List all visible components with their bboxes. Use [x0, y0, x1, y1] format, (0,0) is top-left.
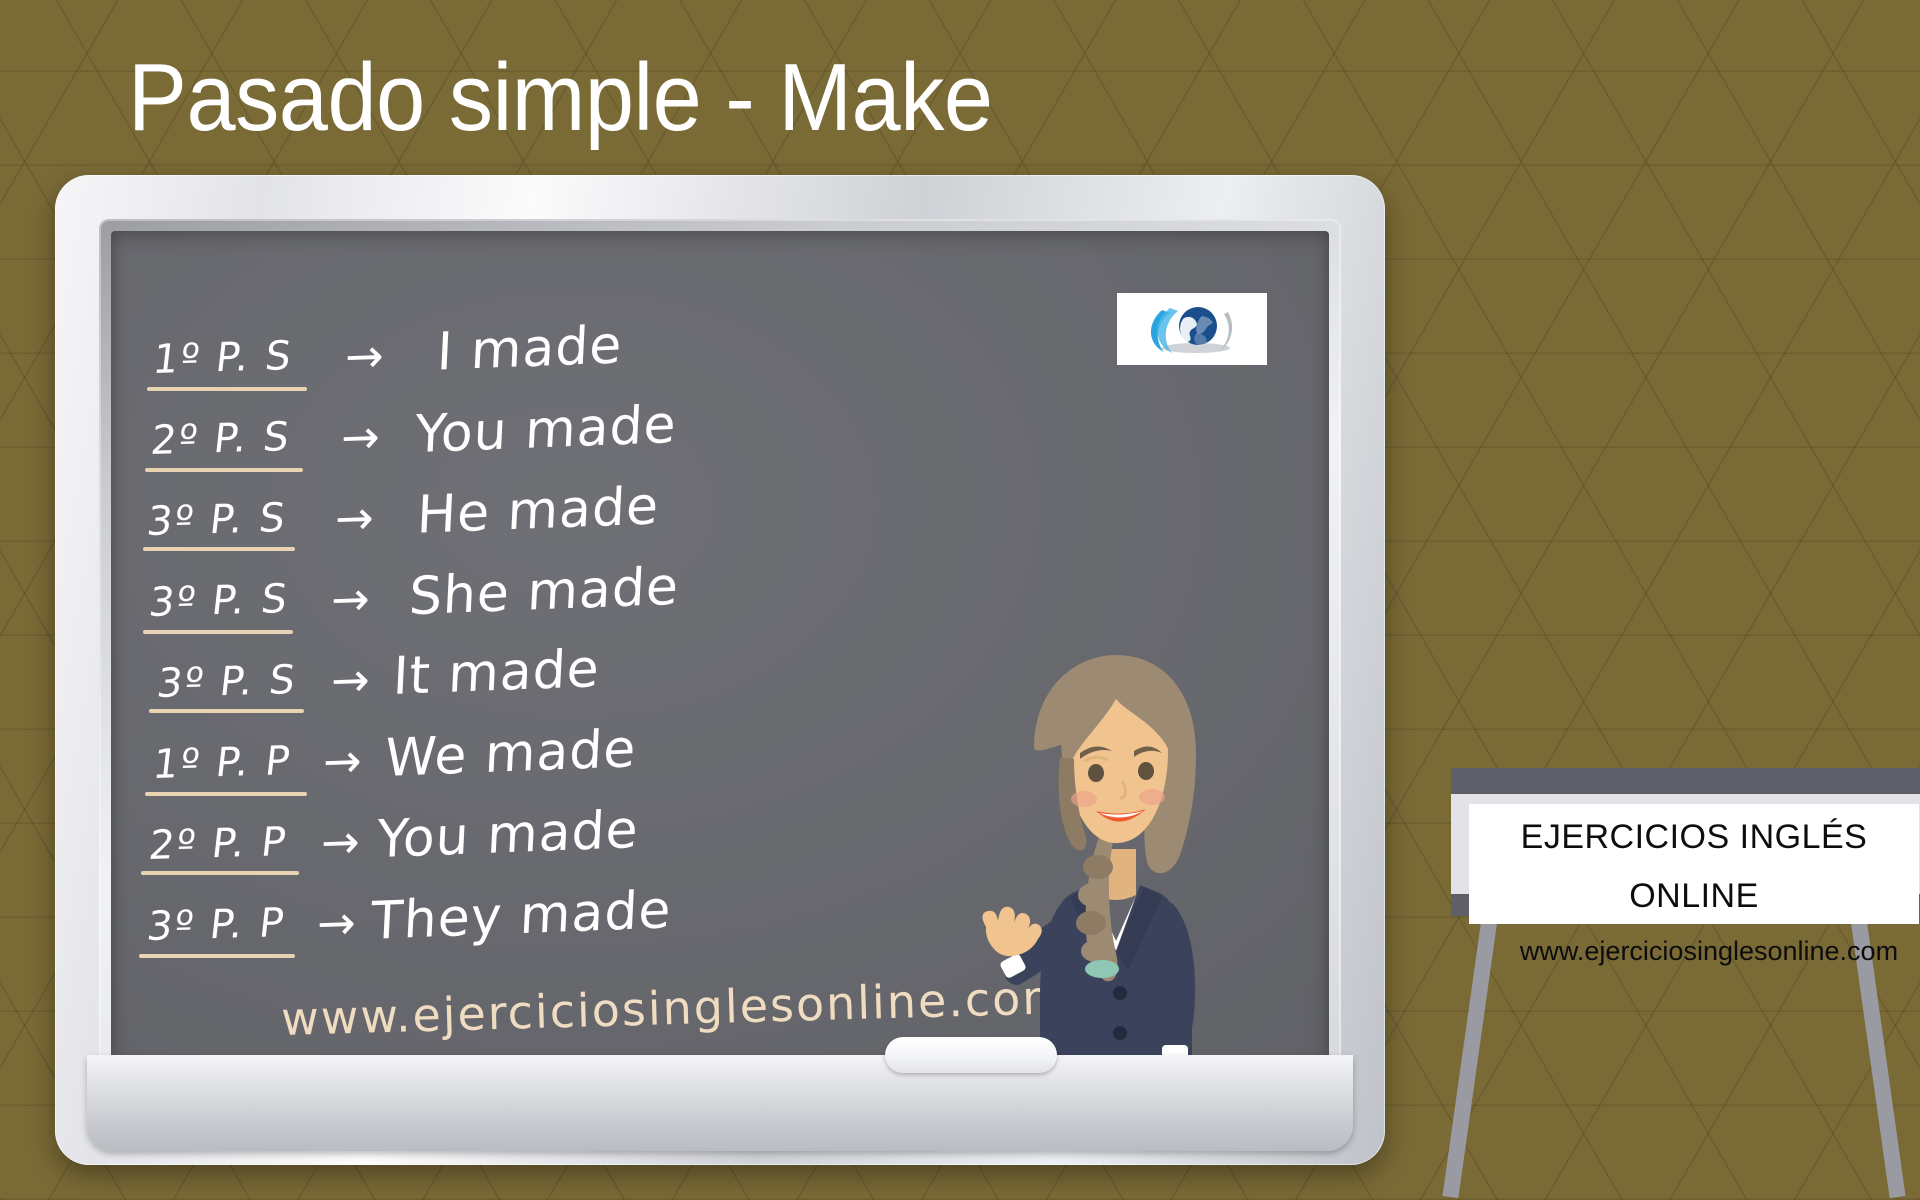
label-underline	[147, 387, 307, 391]
person-label: 3º P. S	[146, 576, 291, 626]
conjugated-phrase: We made	[384, 723, 638, 785]
label-underline	[149, 709, 304, 713]
label-underline	[143, 547, 295, 551]
person-label: 3º P. P	[144, 900, 288, 950]
chalkboard-surface: 1º P. S → I made 2º P. S → You made 3º P…	[111, 231, 1329, 1087]
globe-swoosh-logo	[1117, 293, 1267, 365]
conjugated-phrase: I made	[436, 319, 624, 378]
conjugated-phrase: They made	[370, 884, 673, 948]
sign-top-bar	[1451, 768, 1920, 794]
sign-line-1: EJERCICIOS INGLÉS	[1521, 818, 1868, 857]
person-label: 3º P. S	[144, 495, 289, 545]
conjugation-row: 3º P. S → It made	[145, 651, 945, 732]
chalk-eraser	[885, 1037, 1057, 1073]
conjugation-row: 1º P. P → We made	[145, 732, 945, 813]
chalk-tray	[87, 1055, 1353, 1151]
conjugation-row: 3º P. S → She made	[145, 570, 945, 651]
person-label: 1º P. S	[150, 333, 295, 383]
arrow-icon: →	[320, 818, 360, 865]
conjugation-row: 3º P. P → They made	[145, 894, 945, 975]
arrow-icon: →	[340, 413, 380, 460]
arrow-icon: →	[334, 494, 374, 541]
arrow-icon: →	[344, 332, 384, 379]
conjugated-phrase: It made	[392, 643, 601, 703]
teacher-illustration	[956, 641, 1256, 1087]
conjugated-phrase: He made	[416, 480, 661, 541]
arrow-icon: →	[330, 656, 370, 703]
conjugation-list: 1º P. S → I made 2º P. S → You made 3º P…	[145, 327, 945, 975]
label-underline	[143, 630, 293, 634]
person-label: 1º P. P	[150, 738, 294, 788]
label-underline	[139, 954, 295, 958]
easel-sign: EJERCICIOS INGLÉS ONLINE www.ejerciciosi…	[1427, 768, 1920, 1200]
conjugation-row: 2º P. P → You made	[145, 813, 945, 894]
label-underline	[145, 468, 303, 472]
person-label: 2º P. P	[146, 819, 290, 869]
conjugation-row: 2º P. S → You made	[145, 408, 945, 489]
label-underline	[141, 871, 299, 875]
page-title: Pasado simple - Make	[128, 48, 993, 149]
sign-line-2: ONLINE	[1629, 877, 1759, 916]
chalkboard: 1º P. S → I made 2º P. S → You made 3º P…	[55, 175, 1385, 1165]
sign-whiteboard: EJERCICIOS INGLÉS ONLINE	[1469, 804, 1919, 924]
person-label: 3º P. S	[154, 657, 299, 707]
conjugated-phrase: She made	[408, 561, 680, 624]
chalkboard-website-url: www.ejerciciosinglesonline.com	[280, 970, 1069, 1046]
conjugation-row: 1º P. S → I made	[145, 327, 945, 408]
arrow-icon: →	[322, 737, 362, 784]
sign-website-url: www.ejerciciosinglesonline.com	[1469, 936, 1920, 967]
label-underline	[145, 792, 307, 796]
arrow-icon: →	[330, 575, 370, 622]
conjugation-row: 3º P. S → He made	[145, 489, 945, 570]
person-label: 2º P. S	[148, 414, 293, 464]
arrow-icon: →	[316, 899, 356, 946]
conjugated-phrase: You made	[414, 399, 678, 461]
conjugated-phrase: You made	[376, 804, 640, 866]
